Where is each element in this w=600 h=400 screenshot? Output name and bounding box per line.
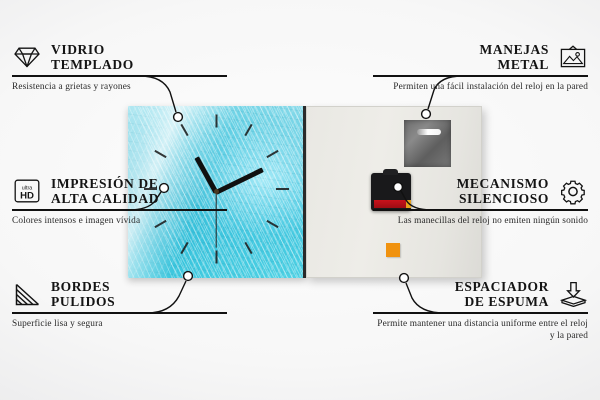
foam-spacer-icon: [558, 279, 588, 309]
feature-callout-espaciador-de-espuma[interactable]: ESPACIADOR DE ESPUMA Permite mantener un…: [373, 279, 588, 343]
callout-description: Las manecillas del reloj no emiten ningú…: [373, 215, 588, 227]
callout-title: MECANISMO SILENCIOSO: [457, 176, 549, 206]
callout-description: Permite mantener una distancia uniforme …: [373, 318, 588, 343]
callout-header: ultra HD IMPRESIÓN DE ALTA CALIDAD: [12, 176, 227, 206]
callout-header: MECANISMO SILENCIOSO: [373, 176, 588, 206]
callout-divider: [373, 75, 588, 77]
wall-mount-frame-icon: [558, 42, 588, 72]
callout-header: BORDES PULIDOS: [12, 279, 227, 309]
diamond-icon: [12, 42, 42, 72]
callout-divider: [373, 312, 588, 314]
clock-tick: [216, 251, 218, 264]
callout-header: MANEJAS METAL: [373, 42, 588, 72]
feature-callout-mecanismo-silencioso[interactable]: MECANISMO SILENCIOSO Las manecillas del …: [373, 176, 588, 227]
mechanism-knob: [383, 169, 398, 175]
feature-callout-manejas-metal[interactable]: MANEJAS METAL Permiten una fácil instala…: [373, 42, 588, 93]
callout-header: VIDRIO TEMPLADO: [12, 42, 227, 72]
callout-divider: [373, 209, 588, 211]
callout-header: ESPACIADOR DE ESPUMA: [373, 279, 588, 309]
feature-callout-impresion-alta-calidad[interactable]: ultra HD IMPRESIÓN DE ALTA CALIDAD Color…: [12, 176, 227, 227]
clock-tick: [216, 115, 218, 128]
ultra-hd-icon: ultra HD: [12, 176, 42, 206]
callout-title: MANEJAS METAL: [480, 42, 549, 72]
infographic-canvas: VIDRIO TEMPLADO Resistencia a grietas y …: [0, 0, 600, 400]
callout-divider: [12, 75, 227, 77]
callout-description: Resistencia a grietas y rayones: [12, 81, 227, 93]
callout-divider: [12, 312, 227, 314]
callout-title: VIDRIO TEMPLADO: [51, 42, 134, 72]
svg-text:HD: HD: [20, 191, 34, 202]
foam-spacer-pad: [386, 243, 400, 257]
callout-title: BORDES PULIDOS: [51, 279, 115, 309]
callout-title: ESPACIADOR DE ESPUMA: [455, 279, 549, 309]
hanger-slot: [417, 129, 441, 135]
feature-callout-vidrio-templado[interactable]: VIDRIO TEMPLADO Resistencia a grietas y …: [12, 42, 227, 93]
callout-description: Permiten una fácil instalación del reloj…: [373, 81, 588, 93]
feature-callout-bordes-pulidos[interactable]: BORDES PULIDOS Superficie lisa y segura: [12, 279, 227, 330]
callout-divider: [12, 209, 227, 211]
clock-tick: [276, 188, 289, 190]
polished-edge-icon: [12, 279, 42, 309]
callout-title: IMPRESIÓN DE ALTA CALIDAD: [51, 176, 159, 206]
metal-hanger-plate: [404, 120, 451, 167]
callout-description: Colores intensos e imagen vívida: [12, 215, 227, 227]
gear-icon: [558, 176, 588, 206]
callout-description: Superficie lisa y segura: [12, 318, 227, 330]
